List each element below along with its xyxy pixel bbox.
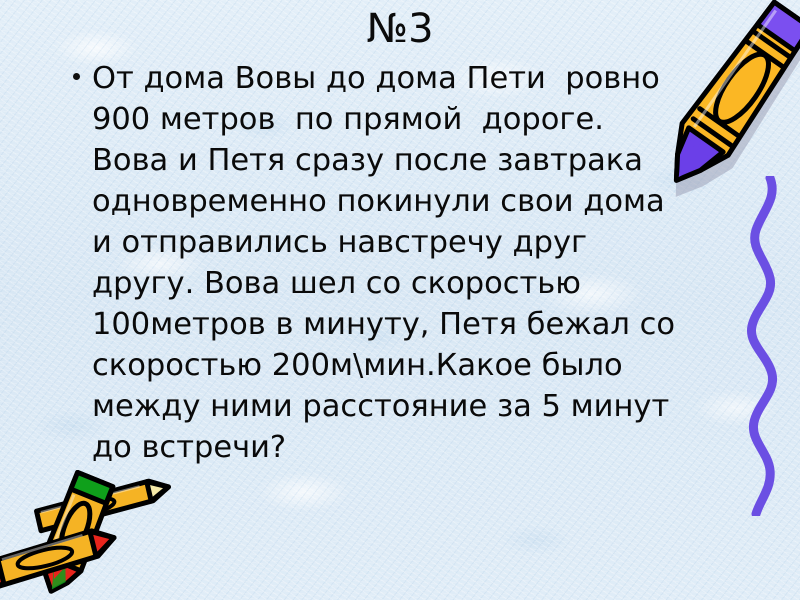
body-text-block: От дома Вовы до дома Пети ровно 900 метр… <box>62 58 742 468</box>
bullet-dot-icon <box>73 73 80 80</box>
slide-canvas: №3 От дома Вовы до дома Пети ровно 900 м… <box>0 0 800 600</box>
bullet-list-item: От дома Вовы до дома Пети ровно 900 метр… <box>62 58 742 468</box>
problem-statement-text: От дома Вовы до дома Пети ровно 900 метр… <box>92 58 742 468</box>
page-title: №3 <box>0 4 800 54</box>
